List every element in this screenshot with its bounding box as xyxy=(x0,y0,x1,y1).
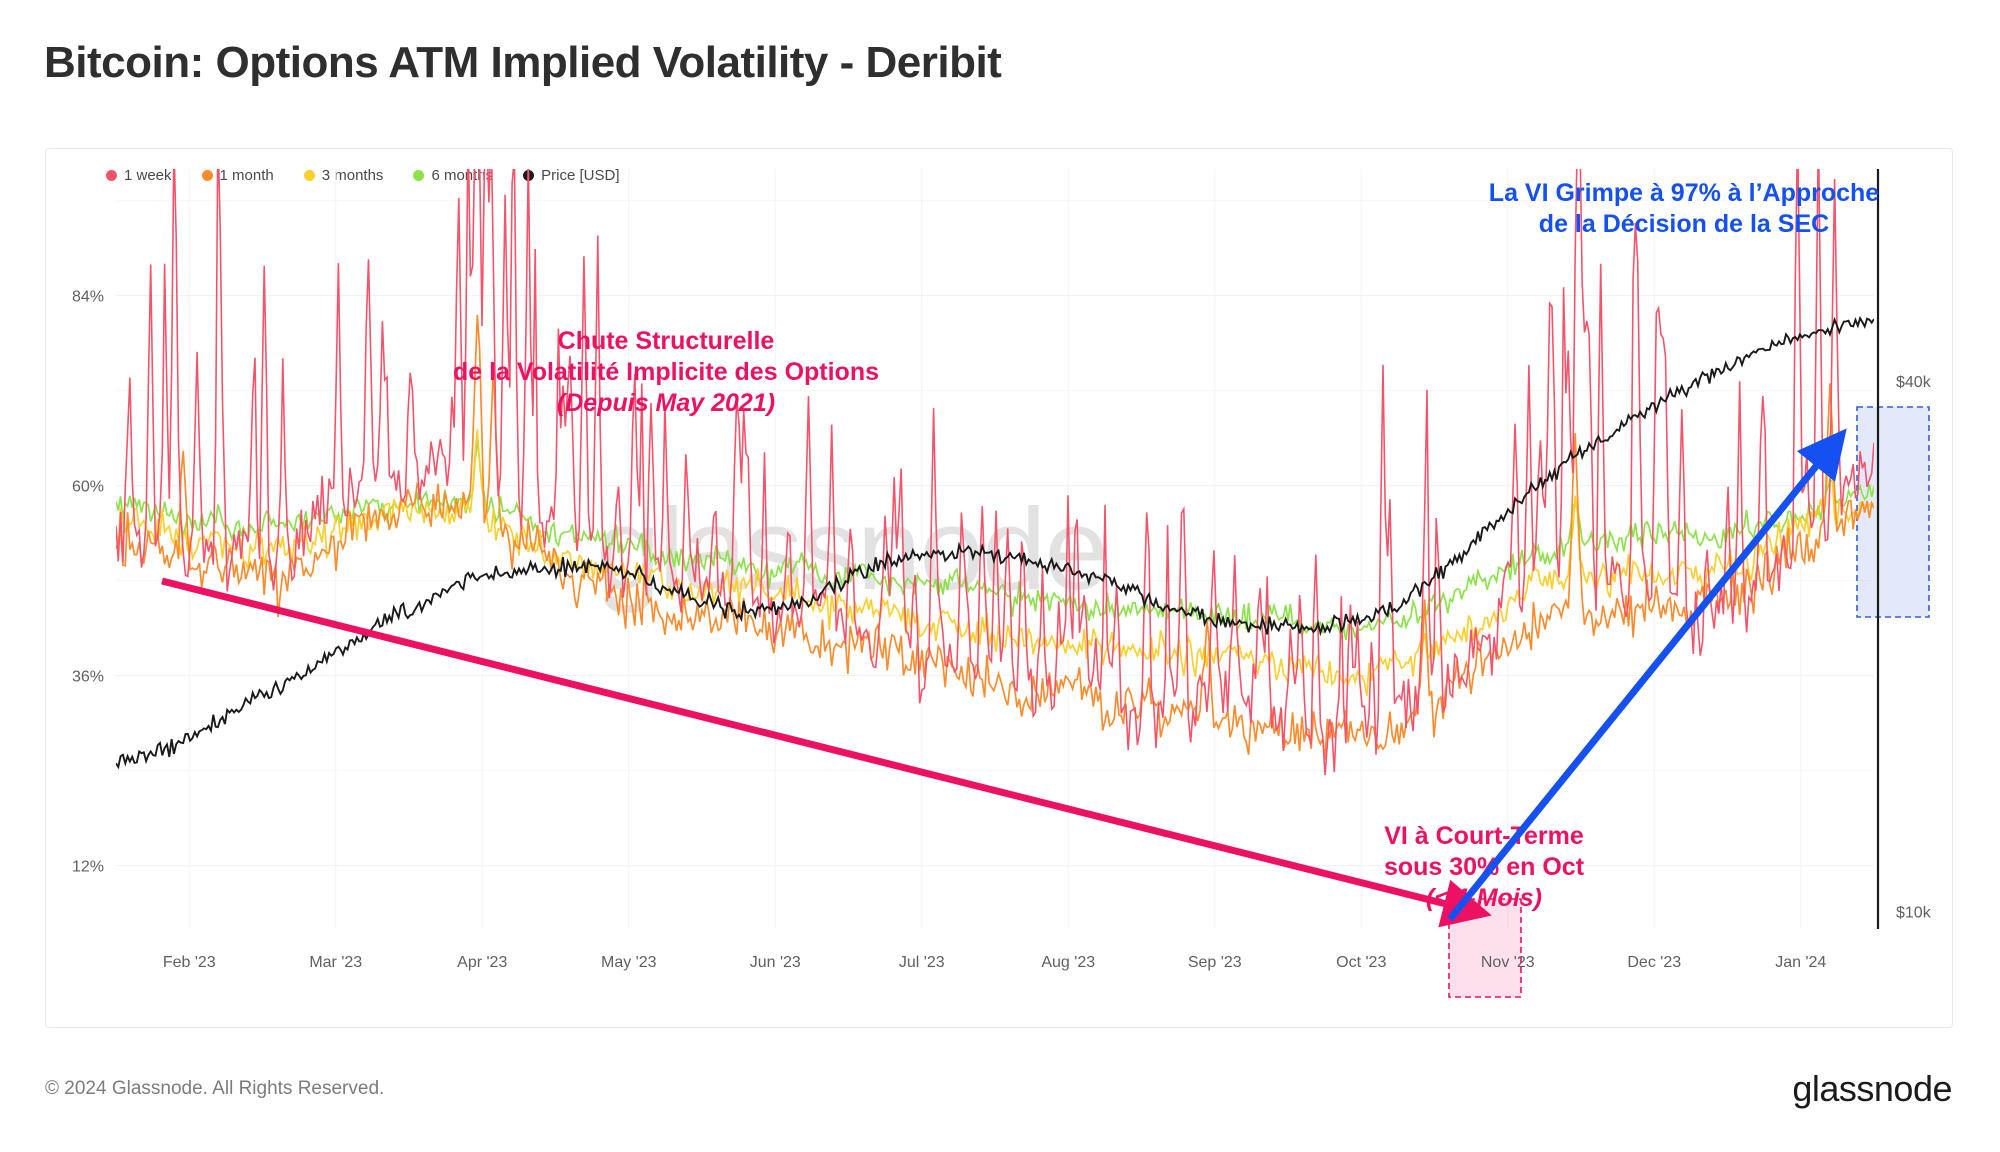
y-axis-left-tick: 36% xyxy=(72,669,104,686)
x-axis-tick: Mar '23 xyxy=(309,954,362,971)
x-axis-tick: Apr '23 xyxy=(457,954,507,971)
y-axis-left-labels: 84%60%36%12% xyxy=(72,289,104,876)
annotation-sec-decision-line: La VI Grimpe à 97% à l’Approche xyxy=(1489,179,1880,207)
footer-logo: glassnode xyxy=(1792,1068,1952,1110)
annotation-arrow-sec-decision xyxy=(1450,449,1830,919)
plot-area: glassnode 84%60%36%12% $40k$10k Feb '23M… xyxy=(46,149,1952,1027)
x-axis-tick: May '23 xyxy=(601,954,657,971)
y-axis-right-tick: $10k xyxy=(1896,904,1932,921)
highlight-box-oct-low-iv-box xyxy=(1449,899,1521,997)
chart-canvas: glassnode 84%60%36%12% $40k$10k Feb '23M… xyxy=(46,149,1954,1029)
series-line-one-week xyxy=(116,149,1874,775)
x-axis-tick: Nov '23 xyxy=(1481,954,1535,971)
annotation-short-term-iv-line: VI à Court-Terme xyxy=(1384,822,1584,850)
x-axis-tick: Jan '24 xyxy=(1775,954,1826,971)
page-title: Bitcoin: Options ATM Implied Volatility … xyxy=(44,38,1001,88)
x-axis-tick: Jun '23 xyxy=(750,954,801,971)
x-axis-tick: Sep '23 xyxy=(1188,954,1242,971)
footer-copyright: © 2024 Glassnode. All Rights Reserved. xyxy=(45,1078,384,1100)
annotation-arrow-structural-decline xyxy=(162,581,1466,909)
annotation-structural-decline-line: Chute Structurelle xyxy=(558,327,775,355)
x-axis-tick: Dec '23 xyxy=(1627,954,1681,971)
chart-panel: 1 week 1 month 3 months 6 months Price [… xyxy=(45,148,1953,1028)
series-lines xyxy=(116,149,1874,775)
annotation-sec-decision-line: de la Décision de la SEC xyxy=(1539,210,1829,238)
x-axis-tick: Oct '23 xyxy=(1336,954,1386,971)
x-axis-labels: Feb '23Mar '23Apr '23May '23Jun '23Jul '… xyxy=(163,954,1827,971)
y-axis-left-tick: 60% xyxy=(72,479,104,496)
annotation-structural-decline-line: de la Volatilité Implicite des Options xyxy=(453,358,879,386)
x-axis-tick: Aug '23 xyxy=(1041,954,1095,971)
annotation-structural-decline-subline: (Depuis May 2021) xyxy=(557,389,775,417)
y-axis-right-tick: $40k xyxy=(1896,374,1932,391)
x-axis-tick: Feb '23 xyxy=(163,954,216,971)
y-axis-left-tick: 84% xyxy=(72,289,104,306)
y-axis-left-tick: 12% xyxy=(72,859,104,876)
x-axis-tick: Jul '23 xyxy=(899,954,945,971)
annotation-short-term-iv-subline: (< 1 Mois) xyxy=(1426,884,1542,912)
